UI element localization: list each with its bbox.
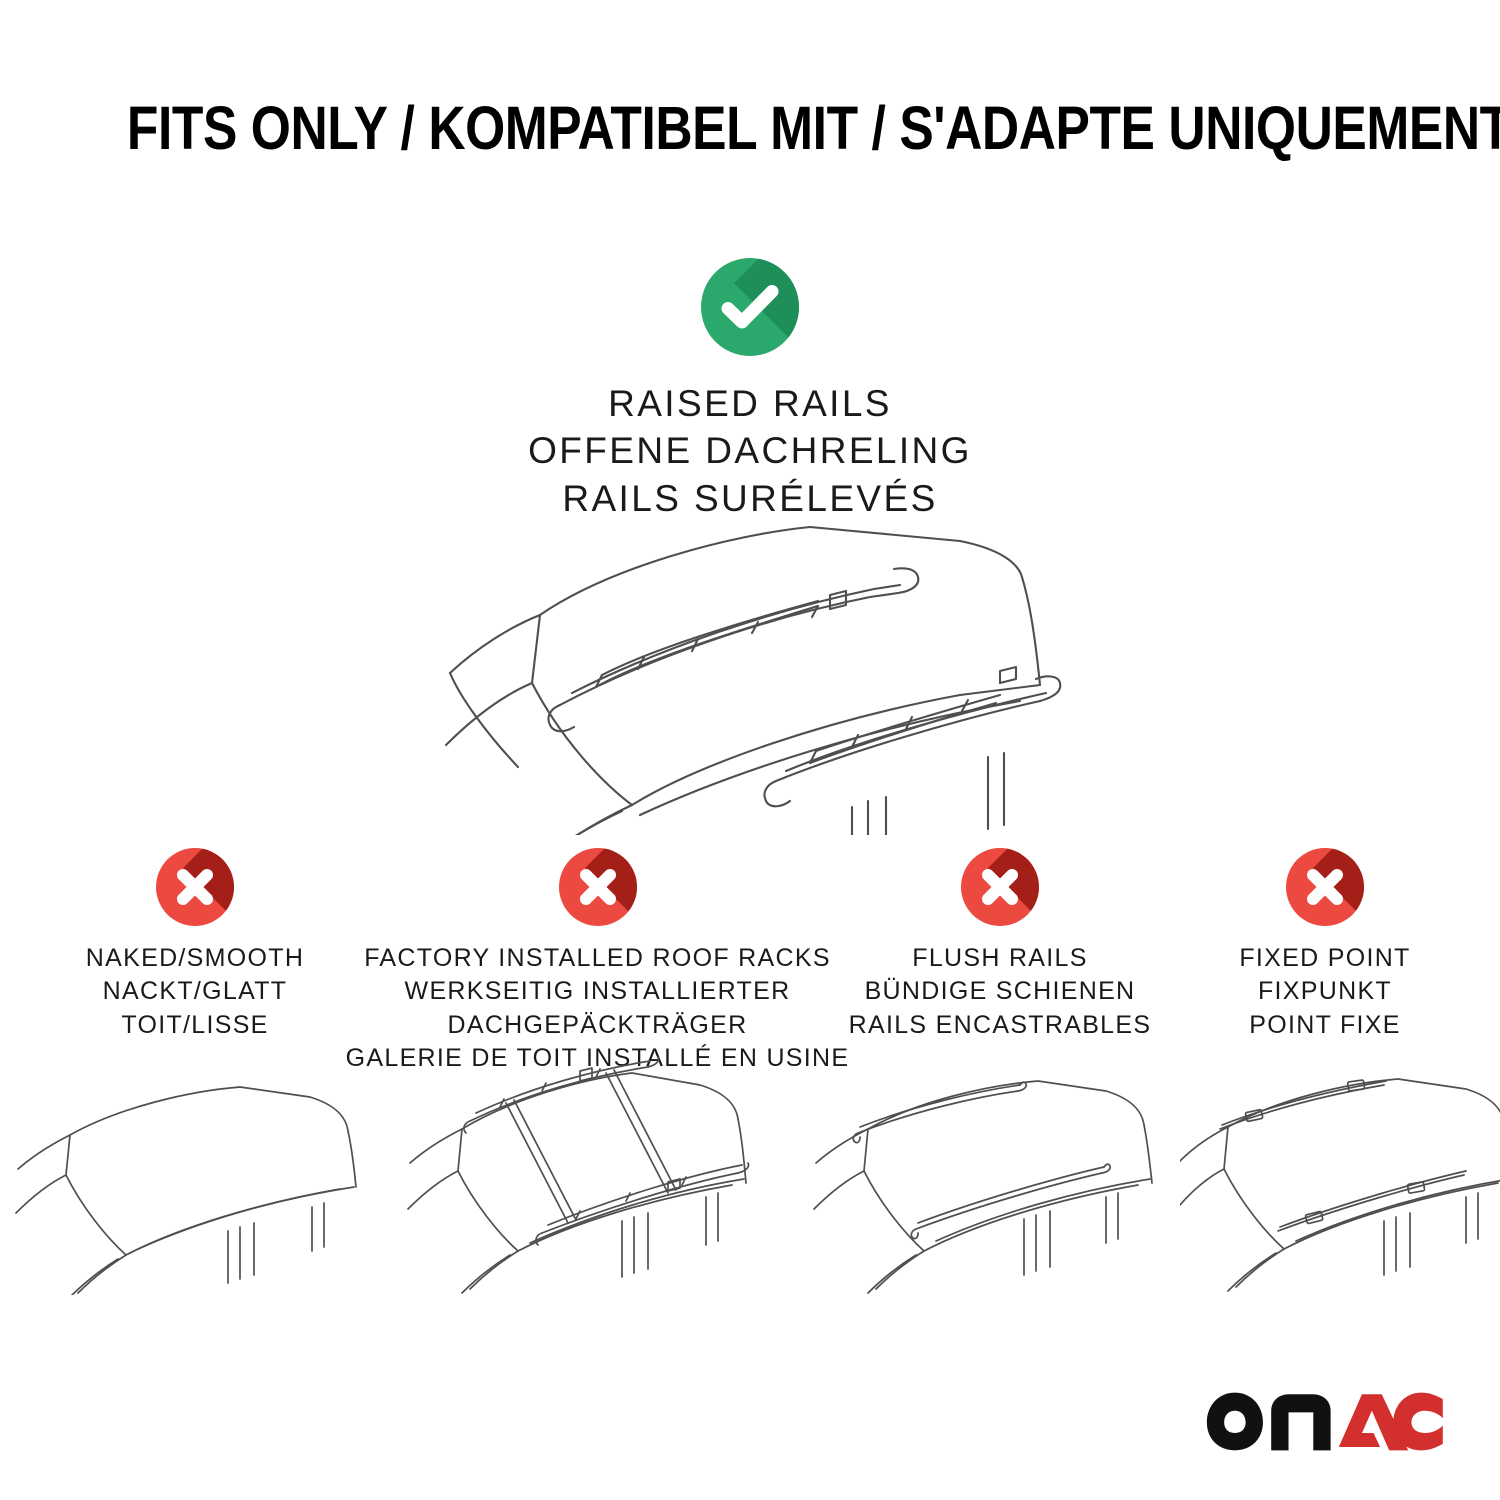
omac-logo (1200, 1386, 1448, 1452)
car-roof-fixed-point-illustration (1180, 1055, 1500, 1295)
label-line-de-1: WERKSEITIG INSTALLIERTER (346, 975, 850, 1008)
logo-letter-c (1393, 1393, 1443, 1451)
compatible-label-en: RAISED RAILS (528, 380, 972, 427)
label-line-fr: POINT FIXE (1239, 1009, 1410, 1042)
omac-logo-mark (1200, 1386, 1448, 1452)
incompatible-item-naked-smooth: NAKED/SMOOTH NACKT/GLATT TOIT/LISSE (20, 848, 370, 1042)
flush-rails-drawing (810, 1055, 1190, 1295)
x-mark-glyph (559, 848, 637, 926)
label-line-fr: TOIT/LISSE (86, 1009, 304, 1042)
label-line-de-2: DACHGEPÄCKTRÄGER (346, 1009, 850, 1042)
check-circle-icon (701, 258, 799, 356)
car-roof-raised-rails-illustration (400, 505, 1100, 835)
label-line-fr: RAILS ENCASTRABLES (849, 1009, 1152, 1042)
label-line-en: FLUSH RAILS (849, 942, 1152, 975)
logo-letter-o (1207, 1393, 1263, 1451)
label-line-en: FACTORY INSTALLED ROOF RACKS (346, 942, 850, 975)
raised-rails-drawing (400, 505, 1100, 835)
incompatible-item-factory-roof-racks: FACTORY INSTALLED ROOF RACKS WERKSEITIG … (370, 848, 825, 1075)
compatible-labels: RAISED RAILS OFFENE DACHRELING RAILS SUR… (528, 380, 972, 522)
label-line-de: FIXPUNKT (1239, 975, 1410, 1008)
incompatible-item-fixed-point: FIXED POINT FIXPUNKT POINT FIXE (1175, 848, 1475, 1042)
check-mark-glyph (701, 258, 799, 356)
x-mark-glyph (1286, 848, 1364, 926)
label-line-de: NACKT/GLATT (86, 975, 304, 1008)
factory-racks-drawing (400, 1055, 800, 1295)
car-roof-flush-rails-illustration (810, 1055, 1190, 1295)
incompatible-item-flush-rails: FLUSH RAILS BÜNDIGE SCHIENEN RAILS ENCAS… (825, 848, 1175, 1042)
x-circle-icon (961, 848, 1039, 926)
page-title-text: FITS ONLY / KOMPATIBEL MIT / S'ADAPTE UN… (127, 96, 1500, 160)
x-circle-icon (1286, 848, 1364, 926)
label-line-en: NAKED/SMOOTH (86, 942, 304, 975)
naked-roof-drawing (10, 1055, 410, 1295)
incompatible-labels: FIXED POINT FIXPUNKT POINT FIXE (1239, 942, 1410, 1042)
x-mark-glyph (156, 848, 234, 926)
label-line-de: BÜNDIGE SCHIENEN (849, 975, 1152, 1008)
incompatible-illustrations (0, 1055, 1500, 1295)
incompatible-section: NAKED/SMOOTH NACKT/GLATT TOIT/LISSE FACT… (0, 848, 1500, 1075)
fixed-point-drawing (1180, 1055, 1500, 1295)
compatible-label-de: OFFENE DACHRELING (528, 427, 972, 474)
car-roof-naked-smooth-illustration (10, 1055, 410, 1295)
compatible-section: RAISED RAILS OFFENE DACHRELING RAILS SUR… (0, 258, 1500, 522)
incompatible-labels: NAKED/SMOOTH NACKT/GLATT TOIT/LISSE (86, 942, 304, 1042)
x-circle-icon (156, 848, 234, 926)
page-title: FITS ONLY / KOMPATIBEL MIT / S'ADAPTE UN… (0, 96, 1500, 160)
logo-letter-m (1271, 1394, 1330, 1450)
x-mark-glyph (961, 848, 1039, 926)
x-circle-icon (559, 848, 637, 926)
label-line-en: FIXED POINT (1239, 942, 1410, 975)
incompatible-labels: FLUSH RAILS BÜNDIGE SCHIENEN RAILS ENCAS… (849, 942, 1152, 1042)
car-roof-factory-roof-racks-illustration (400, 1055, 800, 1295)
